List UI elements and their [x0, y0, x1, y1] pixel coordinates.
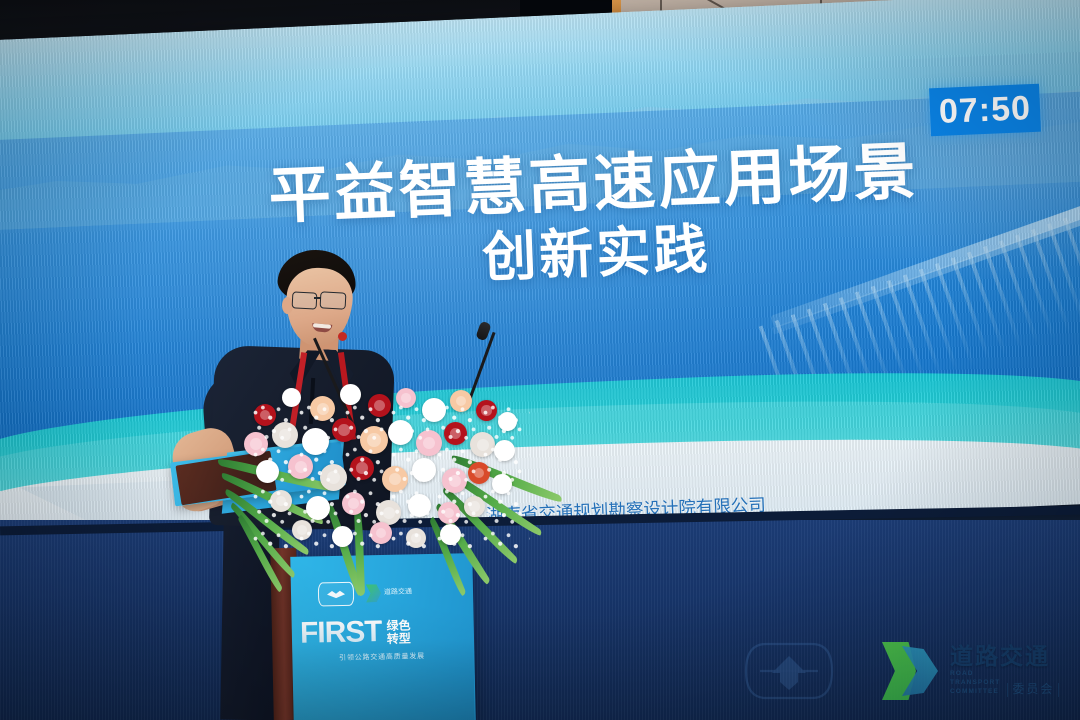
brand-text-column: 道路交通 ROAD TRANSPORT COMMITTEE 委员会 [950, 645, 1059, 696]
flower-bloom [342, 492, 365, 515]
first-chinese-label: 绿色 转型 [386, 617, 411, 645]
flower-bloom [340, 384, 361, 405]
road-transport-committee-logo: 道路交通 ROAD TRANSPORT COMMITTEE 委员会 [882, 634, 1072, 708]
flower-bloom [464, 496, 485, 517]
flower-bloom [442, 468, 467, 493]
flower-bloom [370, 522, 392, 544]
flower-bloom [444, 422, 467, 445]
road-transport-logo-small: 道路交通 [366, 583, 412, 602]
flower-bloom [388, 420, 413, 445]
first-wordmark: FIRST [300, 618, 382, 648]
flower-bloom [438, 502, 460, 524]
flower-bloom [332, 526, 353, 547]
flower-bloom [270, 490, 292, 512]
brand-english-name: ROAD TRANSPORT COMMITTEE [950, 670, 1000, 696]
flower-bloom [468, 462, 490, 484]
microphone-tip-icon [338, 332, 347, 341]
flower-bloom [310, 396, 335, 421]
brand-chinese-name: 道路交通 [950, 645, 1059, 668]
flower-bloom [422, 398, 446, 422]
podium-logo-row: 道路交通 [318, 579, 459, 608]
brand-en-line2: TRANSPORT [950, 679, 1000, 688]
eyeglasses-lens-left [292, 291, 318, 309]
brand-mark-icon [882, 642, 940, 700]
transport-diamond-icon [318, 582, 354, 607]
flower-bloom [288, 454, 313, 479]
countdown-timer-badge: 07:50 [929, 84, 1041, 137]
flower-bouquet [236, 378, 536, 568]
flower-bloom [476, 400, 497, 421]
flower-bloom [412, 458, 436, 482]
flower-bloom [406, 528, 426, 548]
flower-bloom [470, 432, 495, 457]
flower-bloom [396, 388, 416, 408]
brand-subtitle-row: ROAD TRANSPORT COMMITTEE 委员会 [950, 670, 1059, 696]
road-transport-label: 道路交通 [384, 589, 412, 597]
flower-bloom [332, 418, 356, 442]
podium-first-logo: FIRST 绿色 转型 [300, 616, 471, 648]
flower-bloom [272, 422, 298, 448]
eyeglasses-lens-right [320, 291, 347, 309]
flower-bloom [350, 456, 374, 480]
flower-bloom [416, 430, 442, 456]
flower-bloom [450, 390, 472, 412]
timer-value: 07:50 [938, 89, 1032, 132]
flower-bloom [244, 432, 268, 456]
flower-bloom [256, 460, 279, 483]
flower-bloom [368, 394, 391, 417]
flower-bloom [254, 404, 276, 426]
brand-committee-label: 委员会 [1007, 683, 1059, 696]
flower-bloom [282, 388, 301, 407]
flower-bloom [360, 426, 388, 454]
brand-en-line3: COMMITTEE [950, 688, 1000, 697]
flower-bloom [440, 524, 461, 545]
first-cn-line2: 转型 [387, 631, 411, 645]
flower-bloom [492, 474, 512, 494]
flower-bloom [382, 466, 408, 492]
road-transport-mark-icon [366, 584, 381, 602]
flower-bloom [306, 496, 330, 520]
brand-en-line1: ROAD [950, 670, 1000, 679]
flower-bloom [320, 464, 347, 491]
flower-bloom [498, 412, 517, 431]
transport-emblem-watermark [742, 640, 836, 702]
flower-bloom [494, 440, 515, 461]
conference-photo: 平益智慧高速应用场景 创新实践 湖南省交通规划勘察设计院有限公司 湖南省平益高速… [0, 0, 1080, 720]
flower-bloom [302, 428, 329, 455]
flower-bloom [408, 494, 431, 517]
eyeglasses-bridge [314, 297, 321, 299]
flower-bloom [292, 520, 312, 540]
